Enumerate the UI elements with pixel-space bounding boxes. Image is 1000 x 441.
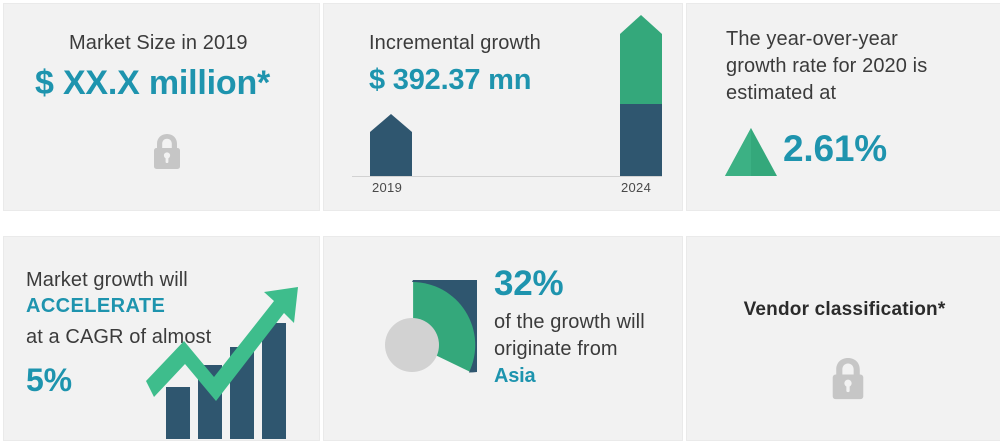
padlock-icon <box>828 355 868 401</box>
yoy-growth-line2: growth rate for 2020 is <box>726 53 966 80</box>
card-cagr: Market growth will ACCELERATE at a CAGR … <box>3 236 320 441</box>
mini-bar-4 <box>262 323 286 439</box>
market-size-value: $ XX.X million* <box>35 64 270 103</box>
region-share-line1: of the growth will <box>494 309 645 336</box>
axis-tick-2024: 2024 <box>621 180 651 195</box>
bar-2024-increment <box>620 15 662 104</box>
yoy-growth-line3: estimated at <box>726 80 966 107</box>
region-share-donut-chart <box>347 280 477 410</box>
axis-tick-2019: 2019 <box>372 180 402 195</box>
infographic-grid: Market Size in 2019 $ XX.X million* Incr… <box>0 0 1000 441</box>
donut-center-hub <box>385 318 439 372</box>
market-size-title: Market Size in 2019 <box>69 30 248 57</box>
region-share-value: 32% <box>494 264 563 304</box>
yoy-growth-text: The year-over-year growth rate for 2020 … <box>726 26 966 107</box>
cagr-value: 5% <box>26 362 72 399</box>
bar-2019 <box>370 114 412 176</box>
yoy-growth-value: 2.61% <box>783 128 887 170</box>
mini-bar-1 <box>166 387 190 439</box>
padlock-icon <box>150 132 184 170</box>
up-triangle-icon <box>724 126 778 178</box>
yoy-growth-line1: The year-over-year <box>726 26 966 53</box>
card-market-size: Market Size in 2019 $ XX.X million* <box>3 3 320 211</box>
bar-2024-base <box>620 104 662 176</box>
vendor-classification-title: Vendor classification* <box>687 299 1000 321</box>
region-share-line2: originate from <box>494 336 618 363</box>
growth-arrow-bars-icon <box>146 279 316 439</box>
cagr-emphasis: ACCELERATE <box>26 295 165 318</box>
card-region-share: 32% of the growth will originate from As… <box>323 236 683 441</box>
card-yoy-growth: The year-over-year growth rate for 2020 … <box>686 3 1000 211</box>
region-share-region: Asia <box>494 365 535 388</box>
card-incremental-growth: Incremental growth $ 392.37 mn 2019 2024 <box>323 3 683 211</box>
chart-baseline <box>352 176 662 177</box>
card-vendor-classification: Vendor classification* <box>686 236 1000 441</box>
